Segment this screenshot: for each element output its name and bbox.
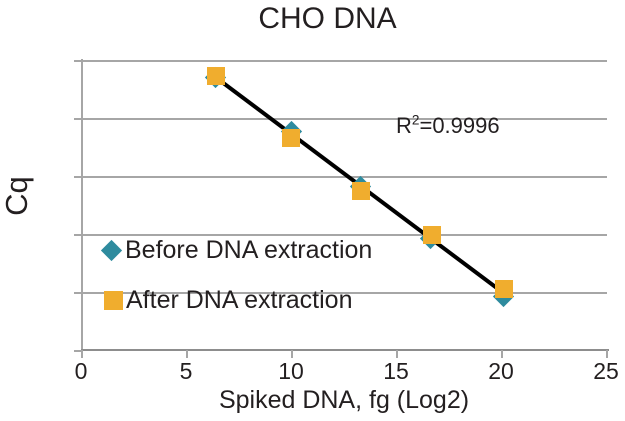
square-marker-icon <box>104 291 123 310</box>
gridline-32 <box>81 118 607 120</box>
x-tick-label-5: 5 <box>156 358 216 385</box>
legend-item-after-dna-extraction[interactable]: After DNA extraction <box>104 288 352 313</box>
marker-after-4 <box>423 226 441 244</box>
r-squared-annotation: R2=0.9996 <box>396 113 500 139</box>
legend-label-after: After DNA extraction <box>126 288 352 313</box>
marker-after-3 <box>352 182 370 200</box>
r-squared-prefix: R <box>396 113 412 138</box>
r-squared-value: =0.9996 <box>419 113 499 138</box>
x-tick-mark-0 <box>81 350 83 358</box>
marker-after-1 <box>207 67 225 85</box>
chart-figure: CHO DNA 36 32 28 24 20 16 0 5 10 15 20 2… <box>0 0 625 421</box>
x-tick-mark-15 <box>396 350 398 358</box>
gridline-28 <box>81 176 607 178</box>
y-axis-title: Cq <box>0 156 35 236</box>
x-tick-label-25: 25 <box>576 358 625 385</box>
x-tick-label-15: 15 <box>366 358 426 385</box>
legend-item-before-dna-extraction[interactable]: Before DNA extraction <box>104 238 372 263</box>
legend-label-before: Before DNA extraction <box>125 238 372 263</box>
x-axis-title: Spiked DNA, fg (Log2) <box>81 386 607 415</box>
x-tick-label-0: 0 <box>51 358 111 385</box>
x-tick-mark-20 <box>501 350 503 358</box>
x-tick-mark-10 <box>291 350 293 358</box>
x-tick-label-10: 10 <box>261 358 321 385</box>
gridline-36 <box>81 60 607 62</box>
x-tick-label-20: 20 <box>471 358 531 385</box>
marker-after-5 <box>495 280 513 298</box>
chart-title-text: CHO DNA <box>258 2 396 36</box>
marker-after-2 <box>282 129 300 147</box>
diamond-marker-icon <box>101 240 122 261</box>
x-tick-mark-5 <box>186 350 188 358</box>
chart-title: CHO DNA <box>0 2 625 36</box>
x-tick-mark-25 <box>606 350 608 358</box>
